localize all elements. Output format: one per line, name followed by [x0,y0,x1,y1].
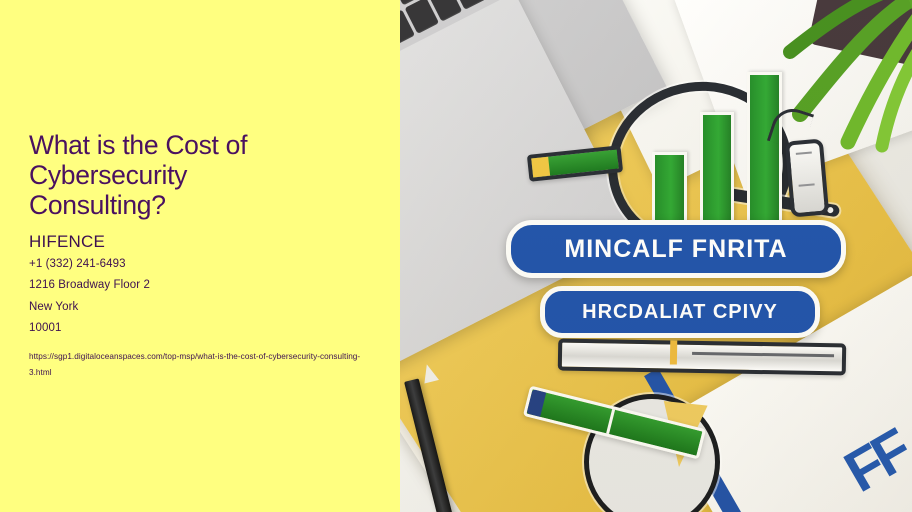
address-zip: 10001 [29,323,376,335]
bar-chart-bar [652,152,687,230]
banner-primary: MINCALF FNRITA [506,220,846,278]
page-title: What is the Cost of Cybersecurity Consul… [29,131,329,221]
address-street: 1216 Broadway Floor 2 [29,280,376,292]
source-url[interactable]: https://sgp1.digitaloceanspaces.com/top-… [29,349,365,382]
banner-secondary: HRCDALIAT CPIVY [540,286,820,338]
bar-chart-bar [747,72,782,230]
phone-number: +1 (332) 241-6493 [29,259,376,271]
pen-illustration-icon [558,338,847,375]
address-city: New York [29,302,376,314]
left-text-panel: What is the Cost of Cybersecurity Consul… [0,0,400,512]
slide-canvas: What is the Cost of Cybersecurity Consul… [0,0,912,512]
bar-chart [652,65,782,230]
brand-name: HIFENCE [29,232,376,252]
computer-mouse-icon [785,138,829,217]
bar-chart-bar [700,112,735,230]
hero-image: MINCALF FNRITA HRCDALIAT CPIVY FF [400,0,912,512]
